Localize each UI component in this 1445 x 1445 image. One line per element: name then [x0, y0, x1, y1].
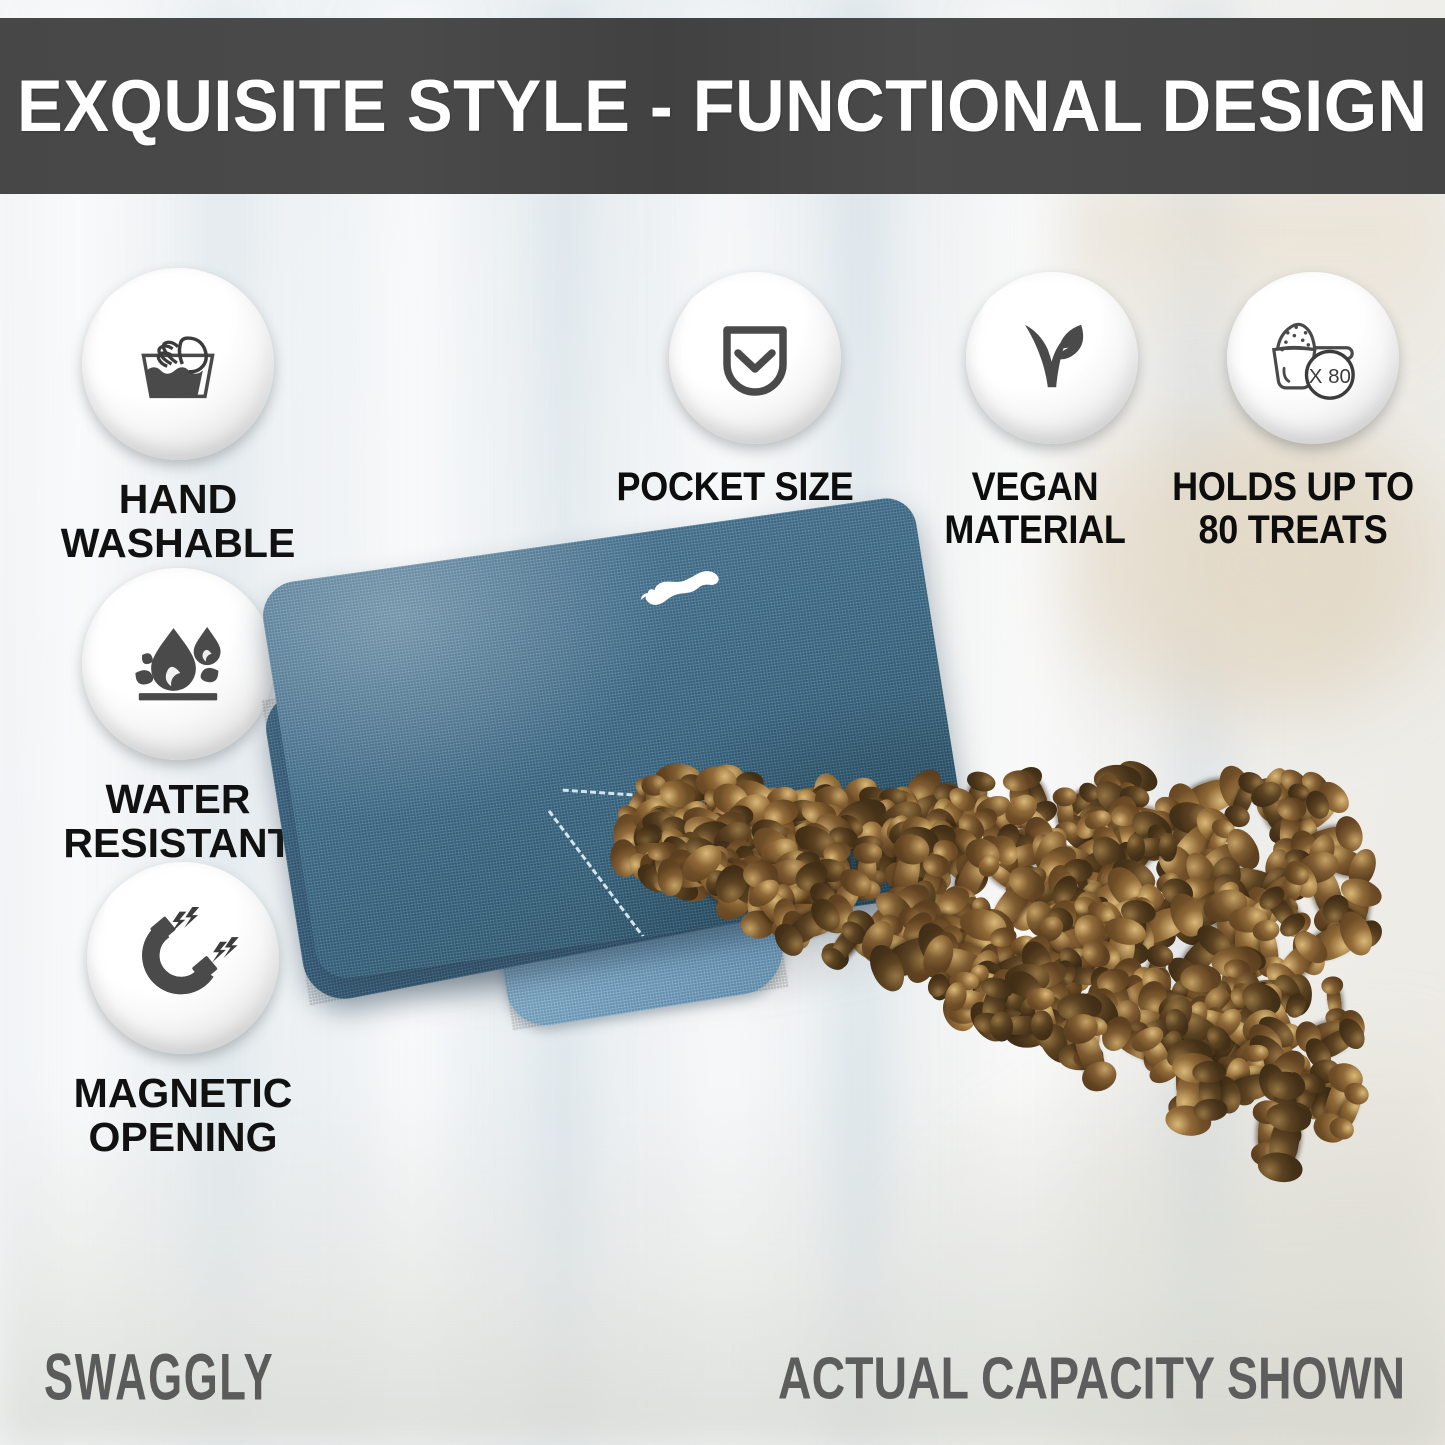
feature-badge-circle — [87, 862, 279, 1054]
feature-badge-circle — [82, 268, 274, 460]
feature-badge-circle — [82, 568, 274, 760]
dog-treat — [1134, 838, 1169, 857]
treat-count-badge-text: X 80 — [1309, 365, 1351, 388]
feature-holds-treats[interactable]: X 80 HOLDS UP TO 80 TREATS — [1213, 272, 1413, 552]
header-banner: EXQUISITE STYLE - FUNCTIONAL DESIGN — [0, 18, 1445, 194]
product-photo — [270, 520, 1430, 1280]
feature-hand-washable[interactable]: HAND WASHABLE — [53, 268, 303, 566]
dog-treat — [1265, 1113, 1303, 1172]
page-title: EXQUISITE STYLE - FUNCTIONAL DESIGN — [17, 65, 1428, 148]
dog-treat — [1000, 1015, 1044, 1036]
feature-badge-circle: X 80 — [1227, 272, 1399, 444]
feature-label: MAGNETIC OPENING — [74, 1071, 293, 1160]
water-droplets-icon — [122, 608, 234, 720]
feature-badge-circle — [669, 272, 841, 444]
capacity-note: ACTUAL CAPACITY SHOWN — [778, 1345, 1405, 1413]
dog-treats-pile — [600, 760, 1430, 1240]
feature-vegan-material[interactable]: VEGAN MATERIAL — [937, 272, 1167, 552]
hand-wash-basin-icon — [124, 310, 232, 418]
feature-label: WATER RESISTANT — [63, 777, 292, 866]
measuring-scoop-icon: X 80 — [1257, 304, 1369, 412]
feature-label: POCKET SIZE — [609, 466, 861, 509]
feature-label: HAND WASHABLE — [61, 477, 296, 566]
brand-name: SWAGGLY — [44, 1338, 274, 1415]
horseshoe-magnet-icon — [125, 900, 241, 1016]
feature-badge-circle — [966, 272, 1138, 444]
leaf-v-icon — [1000, 306, 1104, 410]
dog-treat — [1198, 1070, 1221, 1112]
feature-pocket-size[interactable]: POCKET SIZE — [655, 272, 855, 509]
pocket-chevron-icon — [705, 308, 805, 408]
